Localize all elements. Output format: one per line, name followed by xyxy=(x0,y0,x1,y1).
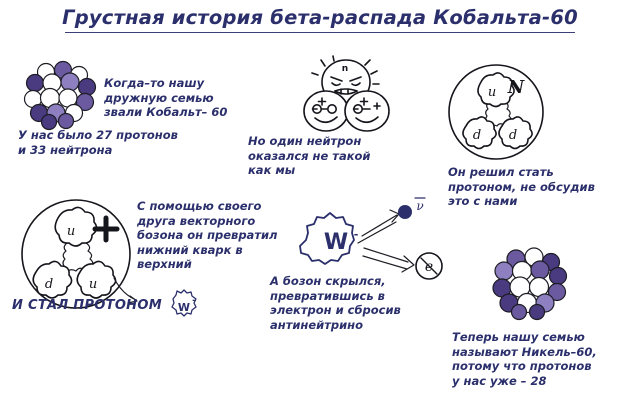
nucleon-faces-group: n xyxy=(290,58,402,133)
proton-quark-d: d xyxy=(45,277,53,292)
angry-face-label: n xyxy=(342,64,348,74)
proton-diagram: u d u xyxy=(14,196,146,314)
neutron-diagram: u d d N xyxy=(446,60,550,166)
infographic-page: Грустная история бета-распада Кобальта-6… xyxy=(0,0,640,410)
w-boson-charge: - xyxy=(354,228,359,241)
neutron-quark-d-left: d xyxy=(473,128,481,143)
neutron-quark-d-right: d xyxy=(509,128,517,143)
escaping-w-boson-charge: - xyxy=(192,296,196,306)
antineutrino-particle xyxy=(398,205,412,219)
proton-caption-bold: И СТАЛ ПРОТОНОМ xyxy=(12,299,162,314)
proton-quark-u-top: u xyxy=(67,224,75,239)
nickel-60-atom-svg xyxy=(492,248,572,318)
escaping-w-boson-label: W xyxy=(178,301,190,314)
proton-caption: С помощью своего друга векторного бозона… xyxy=(137,199,277,272)
proton-quark-u-bottom: u xyxy=(89,277,97,292)
cobalt-caption-bottom: У нас было 27 протонов и 33 нейтрона xyxy=(18,128,178,157)
antineutrino-label: ν xyxy=(416,199,423,213)
neutron-label: N xyxy=(507,77,526,98)
page-title: Грустная история бета-распада Кобальта-6… xyxy=(0,6,640,29)
neutron-svg: u d d N xyxy=(446,60,550,166)
neutron-quark-u: u xyxy=(488,85,496,100)
w-boson-label: W xyxy=(324,230,348,255)
page-title-block: Грустная история бета-распада Кобальта-6… xyxy=(0,6,640,33)
cobalt-caption-top: Когда–то нашу дружную семью звали Кобаль… xyxy=(104,76,227,120)
neutron-caption: Он решил стать протоном, не обсудив это … xyxy=(448,165,595,209)
nucleon-faces-svg: n xyxy=(290,58,402,133)
boson-caption: А бозон скрылся, превратившись в электро… xyxy=(270,274,401,332)
proton-svg: u d u xyxy=(14,196,146,314)
title-divider xyxy=(65,32,575,33)
faces-caption: Но один нейтрон оказался не такой как мы xyxy=(248,134,370,178)
cobalt-60-atom-svg xyxy=(24,62,100,128)
nickel-caption: Теперь нашу семью называют Никель–60, по… xyxy=(452,330,597,388)
electron-label: e xyxy=(425,259,433,275)
escaping-w-boson: W - xyxy=(168,289,202,321)
escaping-w-boson-svg: W - xyxy=(168,289,202,321)
cobalt-60-atom xyxy=(24,62,100,128)
nickel-60-atom xyxy=(492,248,572,318)
